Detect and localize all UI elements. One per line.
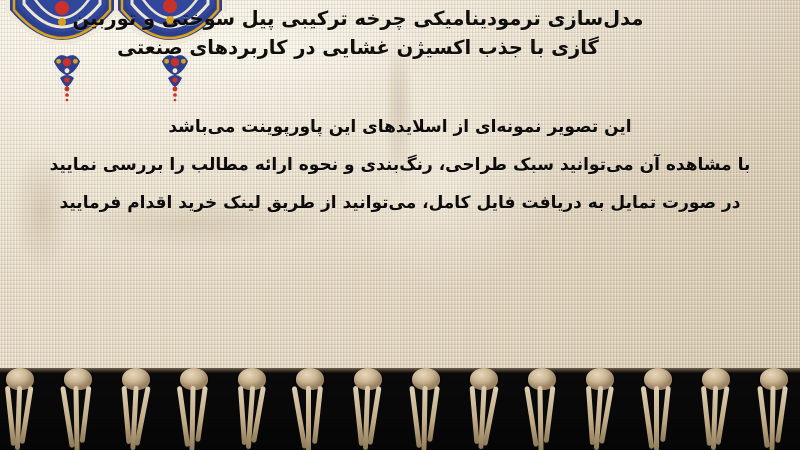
slide-body: این تصویر نمونه‌ای از اسلایدهای این پاور…: [0, 108, 800, 222]
slide-title: مدل‌سازی ترمودینامیکی چرخه ترکیبی پیل سو…: [0, 4, 800, 62]
body-line-2: با مشاهده آن می‌توانید سبک طراحی، رنگ‌بن…: [16, 146, 784, 184]
title-line-2: گازی با جذب اکسیژن غشایی در کاربردهای صن…: [18, 33, 782, 62]
body-line-1: این تصویر نمونه‌ای از اسلایدهای این پاور…: [16, 108, 784, 146]
slide-text-layer: مدل‌سازی ترمودینامیکی چرخه ترکیبی پیل سو…: [0, 0, 800, 450]
body-line-3: در صورت تمایل به دریافت فایل کامل، می‌تو…: [16, 184, 784, 222]
title-line-1: مدل‌سازی ترمودینامیکی چرخه ترکیبی پیل سو…: [18, 4, 782, 33]
slide-canvas: مدل‌سازی ترمودینامیکی چرخه ترکیبی پیل سو…: [0, 0, 800, 450]
